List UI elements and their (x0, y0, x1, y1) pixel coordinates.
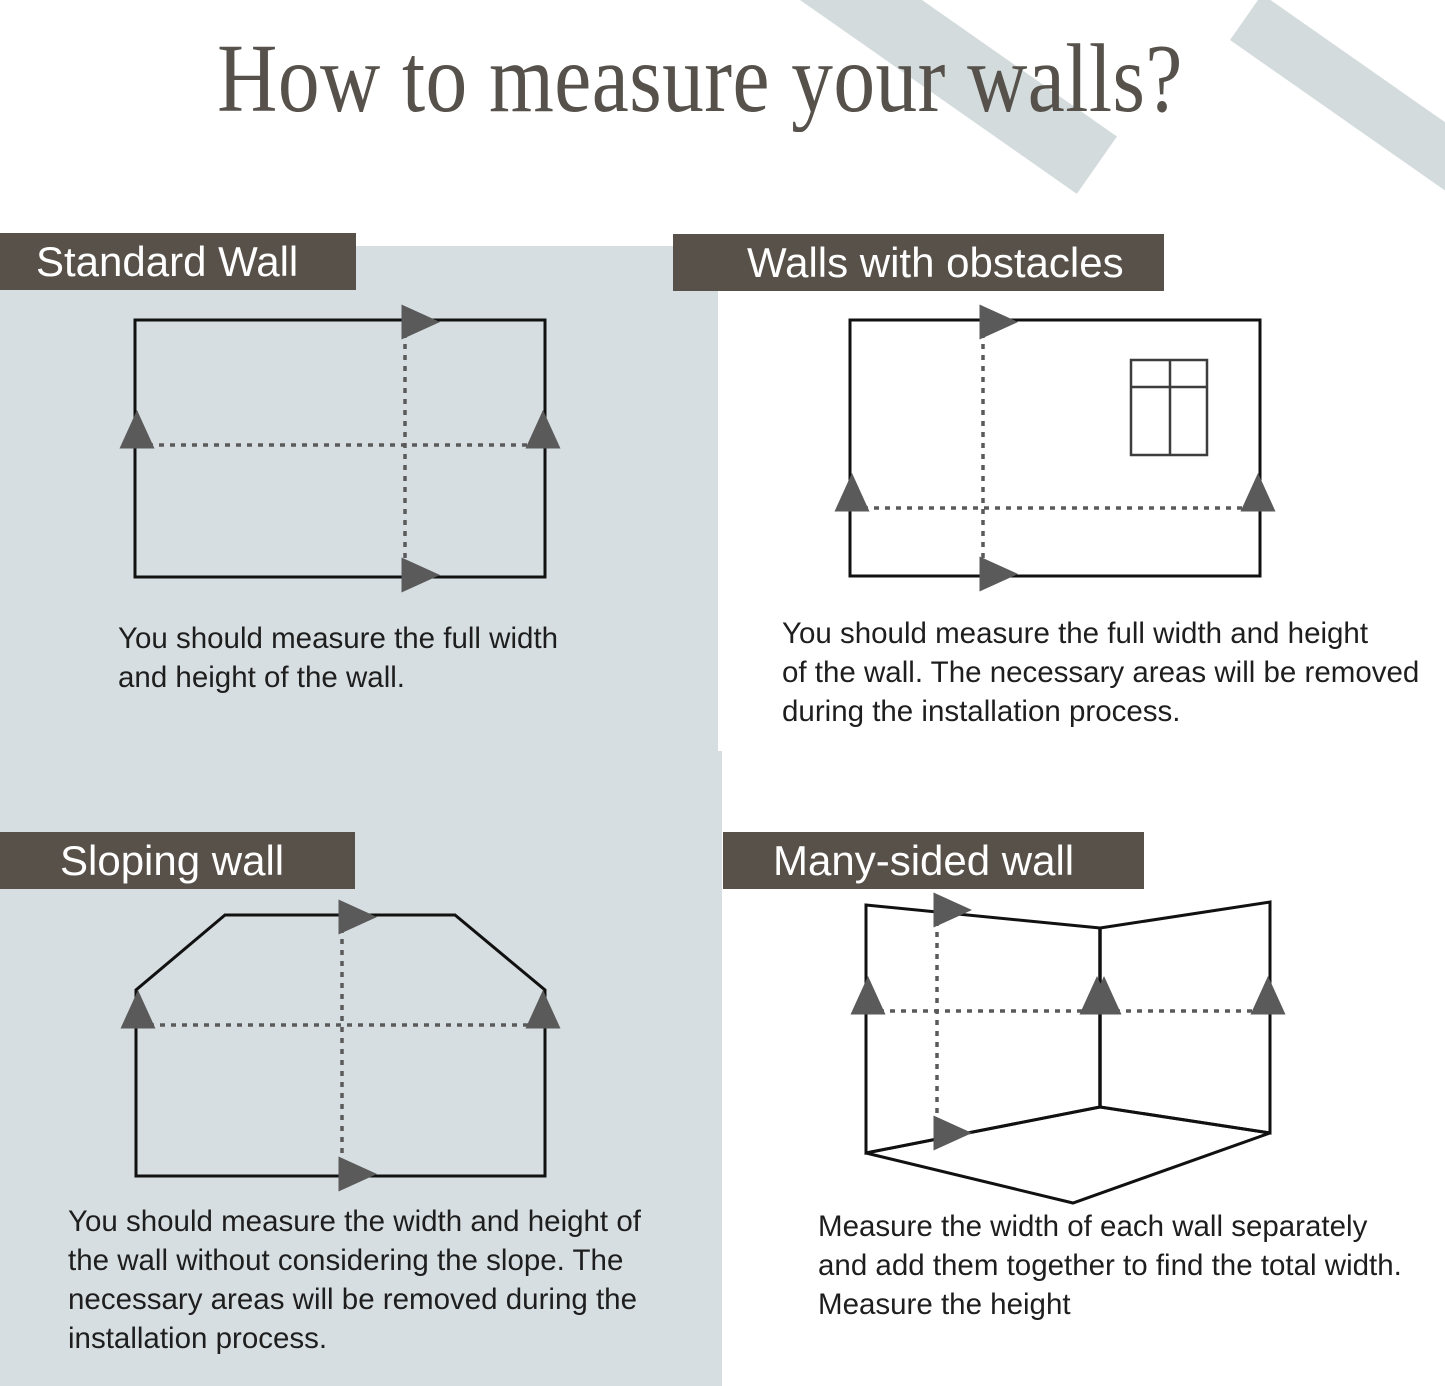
section-header-walls-with-obstacles: Walls with obstacles (673, 234, 1164, 291)
section-header-label: Sloping wall (60, 840, 284, 882)
caption-standard-wall: You should measure the full width and he… (118, 620, 718, 698)
caption-many-sided-wall: Measure the width of each wall separatel… (818, 1208, 1428, 1325)
wall-outline (135, 320, 545, 577)
walls-with-obstacles-diagram (835, 300, 1285, 600)
many-sided-wall-diagram (845, 885, 1305, 1215)
floor-face (866, 1107, 1270, 1203)
window-obstacle-icon (1131, 360, 1207, 455)
sloping-wall-diagram (120, 895, 570, 1195)
left-wall-face (866, 905, 1100, 1153)
section-header-standard-wall: Standard Wall (0, 233, 356, 290)
caption-walls-with-obstacles: You should measure the full width and he… (782, 615, 1422, 732)
section-header-label: Many-sided wall (773, 840, 1074, 882)
infographic-page: How to measure your walls? Standard Wall… (0, 0, 1445, 1386)
section-header-sloping-wall: Sloping wall (0, 832, 355, 889)
section-header-label: Walls with obstacles (747, 242, 1124, 284)
caption-sloping-wall: You should measure the width and height … (68, 1203, 688, 1359)
right-wall-face (1100, 902, 1270, 1133)
standard-wall-diagram (120, 300, 570, 600)
section-header-many-sided-wall: Many-sided wall (723, 832, 1144, 889)
page-title: How to measure your walls? (98, 28, 1302, 130)
wall-outline (850, 320, 1260, 576)
section-header-label: Standard Wall (36, 241, 298, 283)
